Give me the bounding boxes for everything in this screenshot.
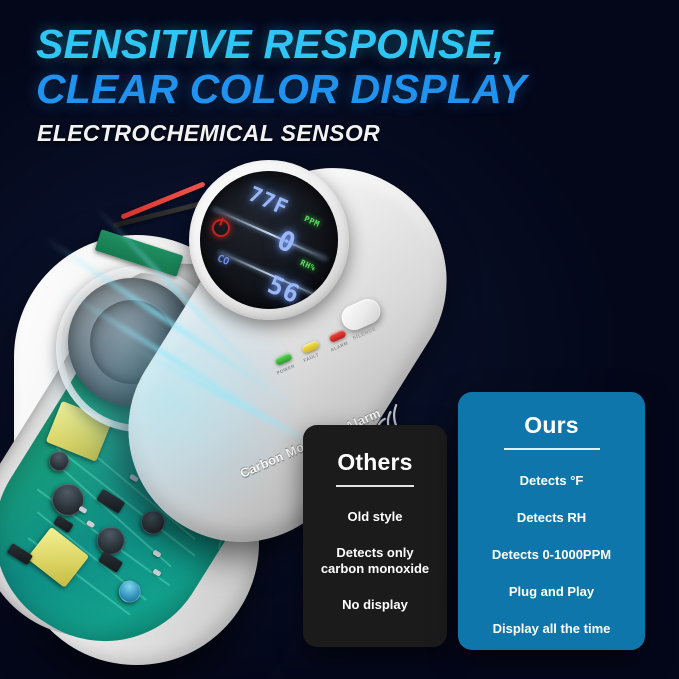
product-feature-image: SENSITIVE RESPONSE, CLEAR COLOR DISPLAY … xyxy=(0,0,679,679)
ours-card-title: Ours xyxy=(468,414,635,437)
list-item: Display all the time xyxy=(468,621,635,637)
list-item: Detects 0-1000PPM xyxy=(468,547,635,563)
subheadline: ELECTROCHEMICAL SENSOR xyxy=(37,120,380,147)
co-value: 0 xyxy=(272,225,300,260)
list-item-text-line-1: Detects only xyxy=(336,545,413,560)
co-unit-label: PPM xyxy=(303,214,321,229)
headline-block: SENSITIVE RESPONSE, CLEAR COLOR DISPLAY xyxy=(36,22,656,112)
lcd-display: 77F 0 PPM CO 56 RH% xyxy=(200,171,338,309)
list-item: Detects °F xyxy=(468,473,635,489)
others-feature-list: Old style Detects onlycarbon monoxide No… xyxy=(313,509,437,613)
comparison-card-others: Others Old style Detects onlycarbon mono… xyxy=(303,425,447,647)
list-item: Detects RH xyxy=(468,510,635,526)
list-item: Plug and Play xyxy=(468,584,635,600)
humidity-unit-label: RH% xyxy=(299,258,317,273)
headline-line-1: SENSITIVE RESPONSE, xyxy=(36,22,656,67)
temperature-value: 77F xyxy=(245,182,292,221)
ours-feature-list: Detects °F Detects RH Detects 0-1000PPM … xyxy=(468,473,635,637)
list-item: Old style xyxy=(313,509,437,525)
list-item-text-line-2: carbon monoxide xyxy=(321,561,429,576)
power-icon xyxy=(209,216,233,240)
others-card-title: Others xyxy=(313,451,437,474)
comparison-card-ours: Ours Detects °F Detects RH Detects 0-100… xyxy=(458,392,645,650)
ours-card-divider xyxy=(504,448,600,450)
list-item: No display xyxy=(313,597,437,613)
headline-line-2: CLEAR COLOR DISPLAY xyxy=(36,67,656,112)
list-item: Detects onlycarbon monoxide xyxy=(313,545,437,577)
others-card-divider xyxy=(336,485,414,487)
